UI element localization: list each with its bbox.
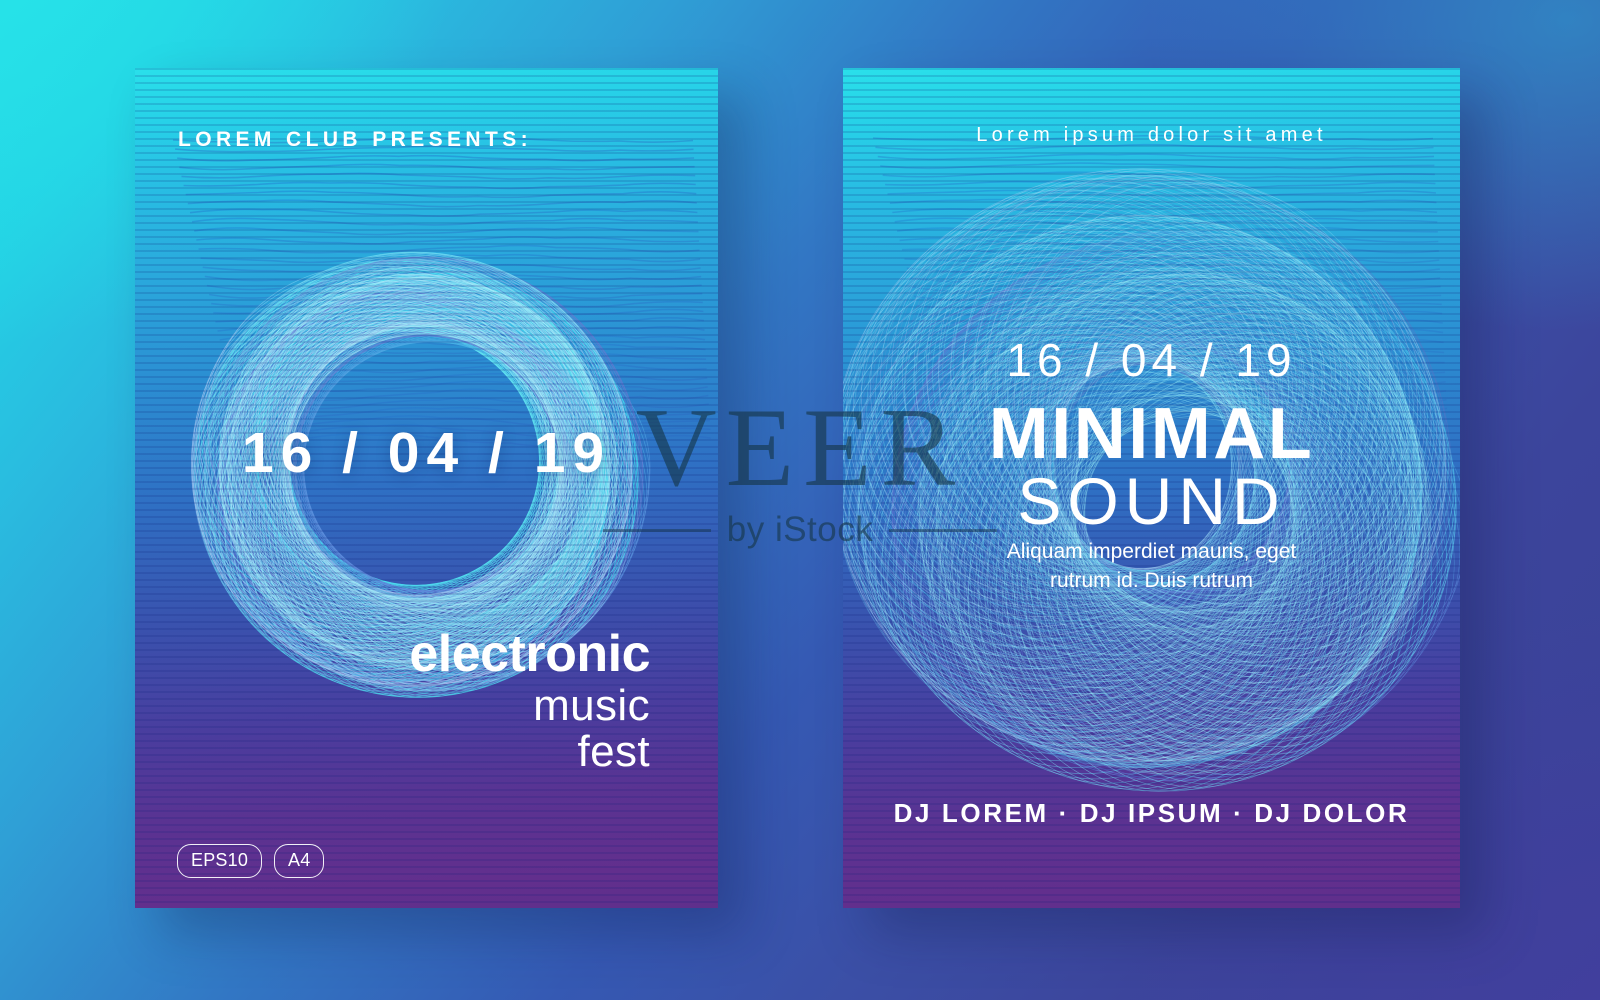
- poster-electronic-music-fest: LOREM CLUB PRESENTS: 16 / 04 / 19 electr…: [135, 68, 718, 908]
- right-title-line-2: SOUND: [843, 468, 1460, 534]
- left-title-line-2: music: [409, 684, 650, 728]
- badge-eps10: EPS10: [177, 844, 262, 878]
- left-poster-badges: EPS10 A4: [177, 844, 324, 878]
- right-poster-date: 16 / 04 / 19: [843, 333, 1460, 387]
- right-title-line-1: MINIMAL: [843, 398, 1460, 470]
- left-poster-title: electronic music fest: [409, 628, 650, 774]
- poster-artboard: LOREM CLUB PRESENTS: 16 / 04 / 19 electr…: [0, 0, 1600, 1000]
- left-title-line-3: fest: [409, 730, 650, 774]
- left-poster-date: 16 / 04 / 19: [135, 420, 718, 486]
- left-title-line-1: electronic: [409, 628, 650, 680]
- poster-left-artwork: [135, 68, 718, 908]
- badge-a4: A4: [274, 844, 324, 878]
- right-subtitle-line-1: Aliquam imperdiet mauris, eget: [843, 538, 1460, 567]
- right-poster-kicker: Lorem ipsum dolor sit amet: [843, 124, 1460, 147]
- right-subtitle-line-2: rutrum id. Duis rutrum: [843, 567, 1460, 596]
- poster-minimal-sound: Lorem ipsum dolor sit amet 16 / 04 / 19 …: [843, 68, 1460, 908]
- right-poster-lineup: DJ LOREM · DJ IPSUM · DJ DOLOR: [843, 798, 1460, 829]
- left-poster-kicker: LOREM CLUB PRESENTS:: [178, 128, 532, 152]
- right-poster-subtitle: Aliquam imperdiet mauris, eget rutrum id…: [843, 538, 1460, 596]
